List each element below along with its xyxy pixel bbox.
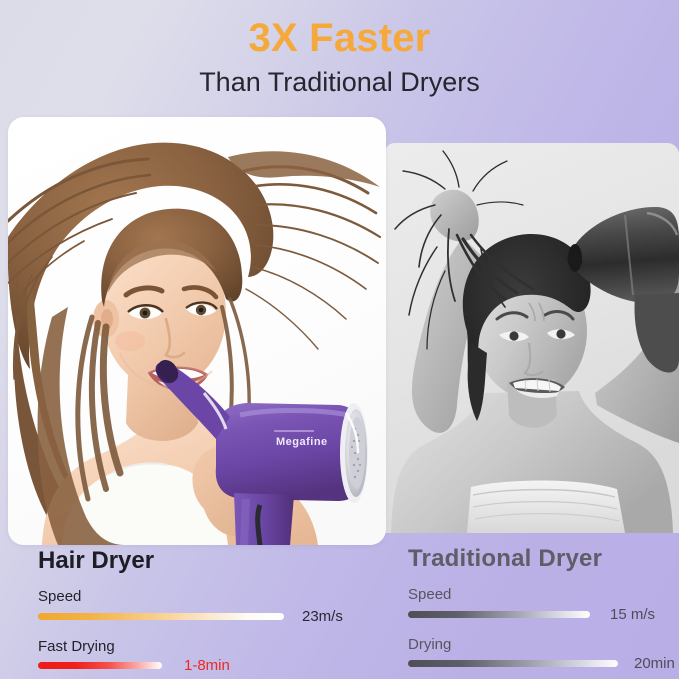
hair-dryer-panel-title: Hair Dryer	[38, 548, 368, 574]
metric-speed-traditional: Speed 15 m/s	[408, 586, 673, 621]
metric-speed-label: Speed	[38, 588, 368, 605]
metric-speed-bar-traditional	[408, 611, 590, 618]
metric-speed-hair-dryer: Speed 23m/s	[38, 588, 368, 623]
headline-block: 3X Faster Than Traditional Dryers	[0, 16, 679, 97]
metric-drying-traditional: Drying 20min	[408, 636, 673, 671]
towel	[467, 481, 625, 534]
metric-speed-value: 23m/s	[302, 609, 343, 624]
traditional-dryer-comparison-panel: Traditional Dryer Speed 15 m/s Drying 20…	[408, 546, 673, 679]
metric-speed-label-traditional: Speed	[408, 586, 673, 603]
page-title: 3X Faster	[0, 16, 679, 61]
marketing-comparison-infographic: 3X Faster Than Traditional Dryers	[0, 0, 679, 679]
metric-drying-label-traditional: Drying	[408, 636, 673, 653]
metric-speed-bar	[38, 613, 284, 620]
metric-drying-bar-traditional	[408, 660, 618, 667]
product-brand-text: Megafine	[276, 436, 328, 448]
page-subtitle: Than Traditional Dryers	[0, 67, 679, 97]
metric-fast-drying-label: Fast Drying	[38, 638, 368, 655]
metric-fast-drying-value: 1-8min	[184, 658, 230, 673]
metric-speed-value-traditional: 15 m/s	[610, 607, 655, 622]
traditional-dryer-panel-title: Traditional Dryer	[408, 546, 673, 572]
brand-hair-dryer-photo: Megafine	[8, 117, 386, 545]
traditional-dryer-illustration	[385, 143, 679, 533]
metric-drying-value-traditional: 20min	[634, 656, 675, 671]
traditional-dryer-photo	[385, 143, 679, 533]
hair-dryer-illustration: Megafine	[8, 117, 386, 545]
hair-dryer-comparison-panel: Hair Dryer Speed 23m/s Fast Drying 1-8mi…	[38, 548, 368, 679]
metric-fast-drying-bar	[38, 662, 162, 669]
metric-fast-drying-hair-dryer: Fast Drying 1-8min	[38, 638, 368, 673]
